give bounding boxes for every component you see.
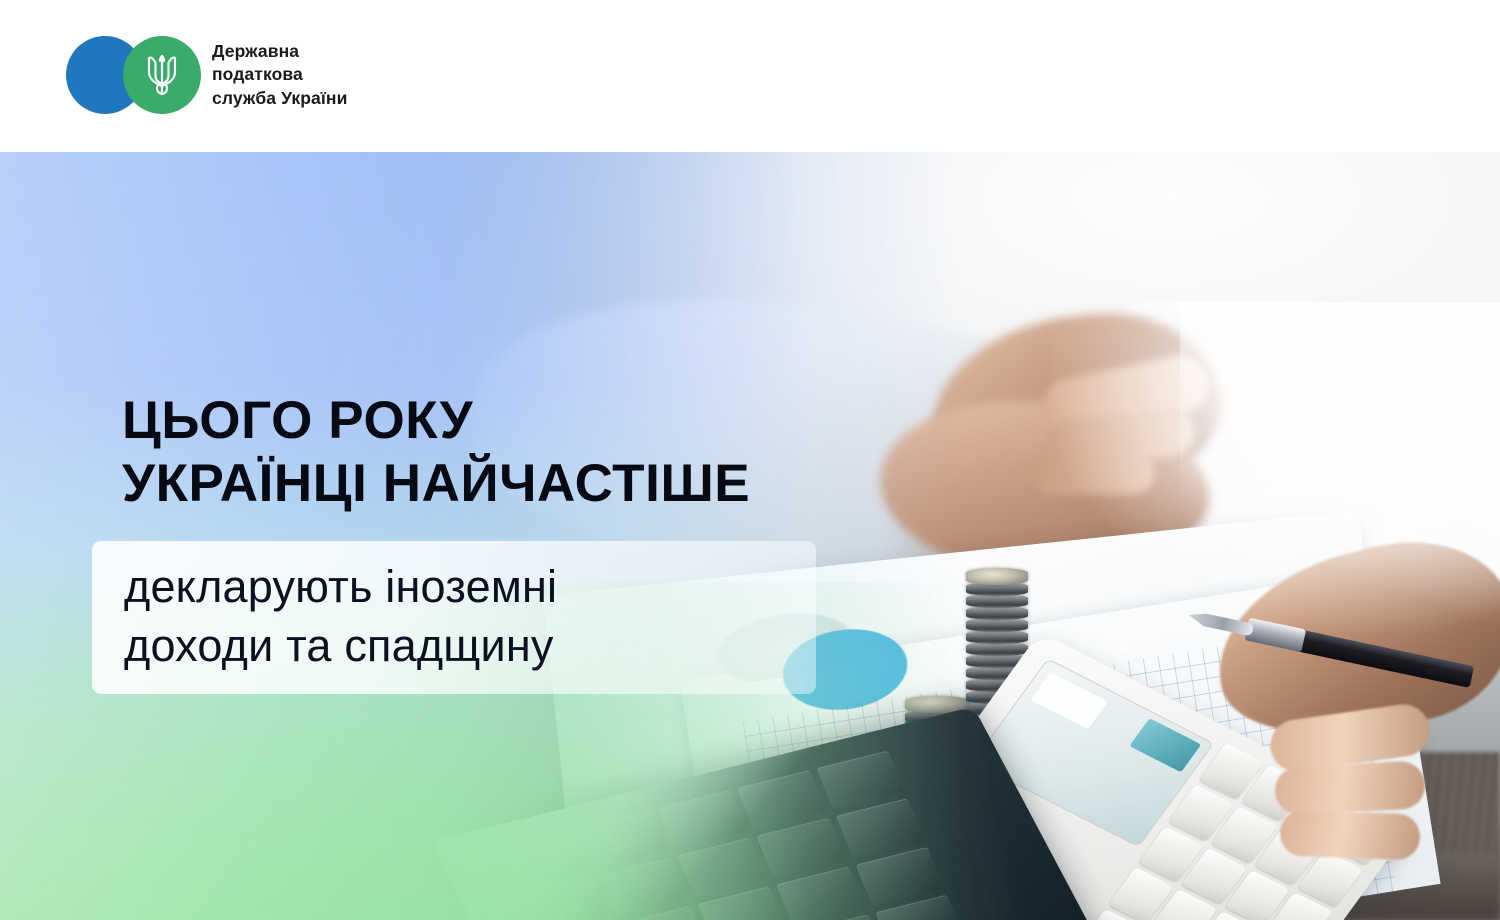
subheadline-text: декларують іноземні доходи та спадщину [124,557,824,676]
headline-text: ЦЬОГО РОКУ УКРАЇНЦІ НАЙЧАСТІШЕ [122,390,1022,515]
header-bar: Державна податкова служба України [0,0,1500,152]
tax-service-banner: Державна податкова служба України [0,0,1500,920]
ukraine-trident-icon [141,50,183,100]
overlay-gradient-white [0,152,1500,920]
hero-image-stage [0,152,1500,920]
logo-marks [66,36,201,114]
logo-organization-name: Державна податкова служба України [212,40,347,110]
logo-block[interactable]: Державна податкова служба України [66,36,347,114]
